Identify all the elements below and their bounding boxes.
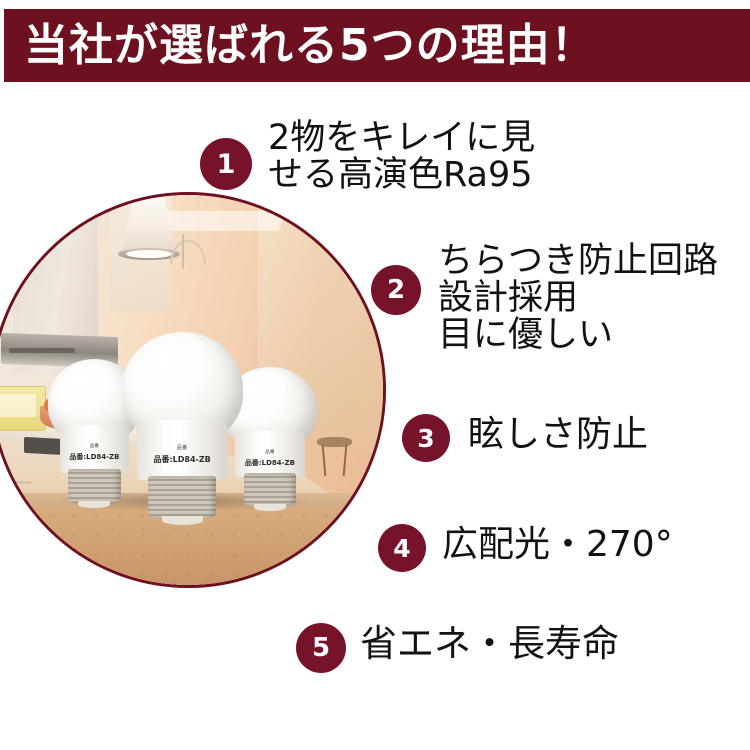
reason-number-badge-3: 3 [402, 414, 450, 462]
range-hood-vent [9, 348, 75, 353]
bulb-base-tip [254, 504, 286, 511]
bulb-screw-base [68, 469, 120, 503]
bulb-neck [60, 425, 129, 473]
reason-number-badge-5: 5 [296, 623, 346, 673]
kitchen-scene: 品番 品番:LD84-ZB 品番 品番:LD84-ZB 品番 品番:LD84-Z… [0, 195, 383, 585]
reason-number-badge-4: 4 [378, 524, 426, 572]
header-banner: 当社が選ばれる5つの理由！ [4, 9, 750, 82]
reason-number-4: 4 [393, 534, 410, 563]
scene-ceiling-light-strip [162, 211, 284, 231]
bulb-brand-mark: 品番 [122, 444, 243, 451]
reason-number-badge-2: 2 [371, 265, 421, 315]
reason-text-5: 省エネ・長寿命 [360, 624, 619, 663]
bulb-screw-base [244, 473, 296, 506]
reason-number-2: 2 [387, 275, 405, 305]
reason-text-1: 2物をキレイに見 せる高演色Ra95 [268, 120, 535, 194]
bulb-base-tip [162, 516, 203, 525]
reason-number-5: 5 [312, 633, 330, 663]
bulb-base-tip [78, 501, 110, 508]
bulb-model-label: 品番:LD84-ZB [122, 454, 243, 465]
advertisement-page: 当社が選ばれる5つの理由！ [0, 0, 750, 750]
reason-number-3: 3 [417, 424, 434, 453]
reason-text-4: 広配光・270° [442, 526, 673, 564]
product-photo-circle: 品番 品番:LD84-ZB 品番 品番:LD84-ZB 品番 品番:LD84-Z… [0, 192, 386, 588]
bulb-hanger-wire [182, 234, 184, 269]
counter-appliance-door [0, 394, 36, 417]
page-title: 当社が選ばれる5つの理由！ [24, 24, 596, 68]
reason-text-3: 眩しさ防止 [468, 416, 648, 454]
reason-text-2: ちらつき防止回路 設計採用 目に優しい [438, 243, 718, 354]
reason-number-badge-1: 1 [200, 138, 252, 190]
reason-number-1: 1 [217, 149, 236, 180]
bulb-screw-base [148, 476, 216, 518]
scene-far-wall [313, 195, 383, 452]
